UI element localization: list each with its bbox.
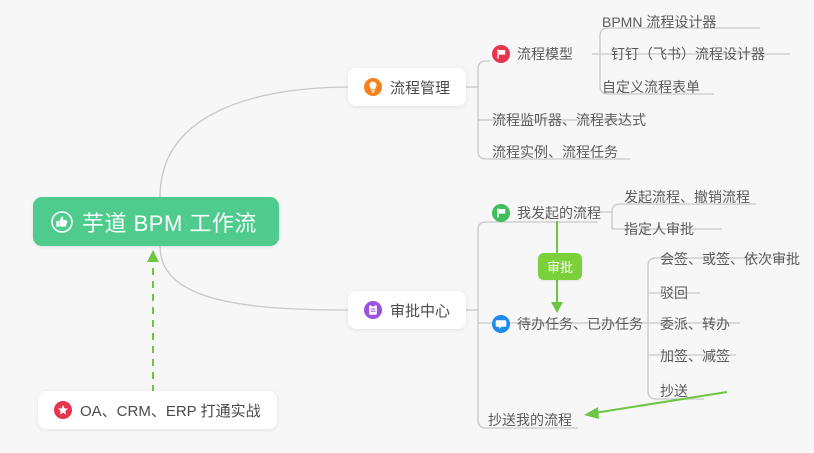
- node-instance-task[interactable]: 流程实例、流程任务: [492, 140, 618, 164]
- node-reject[interactable]: 驳回: [660, 281, 688, 305]
- node-my-initiated-processes[interactable]: 我发起的流程: [492, 201, 601, 225]
- flow-arrow-carbon-copy: [584, 392, 727, 419]
- node-carbon-copy[interactable]: 抄送: [660, 379, 688, 403]
- comment-icon: [492, 315, 510, 333]
- approval-flow-pill[interactable]: 审批: [538, 253, 582, 280]
- node-label: OA、CRM、ERP 打通实战: [80, 400, 261, 421]
- node-label: 抄送: [660, 381, 688, 401]
- node-process-model[interactable]: 流程模型: [492, 42, 573, 66]
- node-approval-center[interactable]: 审批中心: [348, 291, 466, 329]
- mindmap-canvas: 芋道 BPM 工作流 流程管理 流程模型 BPMN 流程设计器 钉钉（飞书）流程: [0, 0, 814, 453]
- node-custom-process-form[interactable]: 自定义流程表单: [602, 75, 700, 99]
- node-dingtalk-feishu-designer[interactable]: 钉钉（飞书）流程设计器: [611, 42, 765, 66]
- flag-icon: [492, 45, 510, 63]
- wire-pm-to-model: [478, 61, 490, 69]
- node-countersign-orsign-sequential[interactable]: 会签、或签、依次审批: [660, 247, 800, 271]
- root-label: 芋道 BPM 工作流: [82, 206, 257, 238]
- node-label: 流程模型: [517, 44, 573, 64]
- clipboard-icon: [364, 301, 382, 319]
- node-label: 加签、减签: [660, 346, 730, 366]
- node-label: 钉钉（飞书）流程设计器: [611, 44, 765, 64]
- node-add-remove-sign[interactable]: 加签、减签: [660, 344, 730, 368]
- node-label: BPMN 流程设计器: [602, 12, 716, 32]
- approval-flow-pill-label: 审批: [547, 257, 573, 276]
- node-process-management[interactable]: 流程管理: [348, 68, 466, 106]
- node-cc-to-me-processes[interactable]: 抄送我的流程: [488, 408, 572, 432]
- node-label: 流程实例、流程任务: [492, 142, 618, 162]
- node-label: 驳回: [660, 283, 688, 303]
- node-bpmn-designer[interactable]: BPMN 流程设计器: [602, 10, 716, 34]
- node-todo-done-tasks[interactable]: 待办任务、已办任务: [492, 312, 643, 336]
- flag-icon: [492, 204, 510, 222]
- node-label: 发起流程、撤销流程: [624, 187, 750, 207]
- node-label: 待办任务、已办任务: [517, 314, 643, 334]
- wire-root-to-process-management: [160, 87, 348, 197]
- star-icon: [54, 401, 72, 419]
- thumbs-up-icon: [51, 211, 73, 233]
- node-assignee-approval[interactable]: 指定人审批: [624, 217, 694, 241]
- node-integration-practice[interactable]: OA、CRM、ERP 打通实战: [38, 391, 277, 429]
- node-label: 我发起的流程: [517, 203, 601, 223]
- node-delegate-transfer[interactable]: 委派、转办: [660, 312, 730, 336]
- node-label: 自定义流程表单: [602, 77, 700, 97]
- node-start-cancel-process[interactable]: 发起流程、撤销流程: [624, 185, 750, 209]
- node-label: 流程监听器、流程表达式: [492, 110, 646, 130]
- node-label: 委派、转办: [660, 314, 730, 334]
- node-listener-expression[interactable]: 流程监听器、流程表达式: [492, 108, 646, 132]
- node-label: 指定人审批: [624, 219, 694, 239]
- node-label: 会签、或签、依次审批: [660, 249, 800, 269]
- lightbulb-icon: [364, 78, 382, 96]
- node-label: 抄送我的流程: [488, 410, 572, 430]
- flow-arrow-integration: [147, 250, 159, 392]
- wire-root-to-approval-center: [160, 246, 348, 310]
- node-label: 审批中心: [390, 300, 450, 321]
- node-label: 流程管理: [390, 77, 450, 98]
- root-node[interactable]: 芋道 BPM 工作流: [33, 197, 279, 246]
